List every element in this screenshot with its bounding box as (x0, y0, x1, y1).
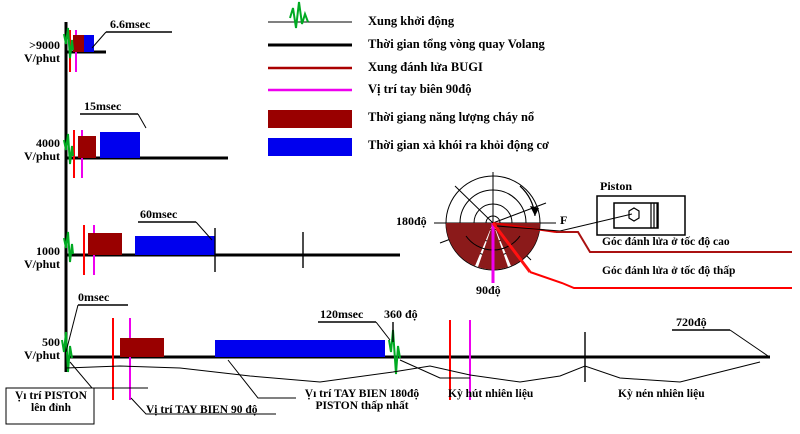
legend-swatch-burn (268, 110, 352, 128)
burn-bar-4000 (78, 136, 96, 158)
callout-intake-stroke: Kỳ hút nhiên liệu (448, 388, 533, 400)
legend-label-spark-pulse: Xung đánh lửa BUGI (368, 61, 483, 74)
duration-label-15msec: 15msec (84, 100, 121, 113)
polar-label-90deg: 90độ (476, 284, 501, 297)
stroke-curve (66, 362, 760, 382)
exhaust-bar-9000 (84, 35, 94, 52)
duration-label-6_6msec: 6.6msec (110, 18, 150, 31)
exhaust-bar-4000 (100, 132, 140, 158)
row-label-rpm-500: 500V/phut (2, 336, 60, 361)
legend-label-start-pulse: Xung khởi động (368, 15, 454, 28)
legend-start-pulse-icon (290, 2, 308, 28)
row-label-rpm-4000: 4000V/phut (2, 137, 60, 162)
legend-label-flywheel-time: Thời gian tổng vòng quay Volang (368, 38, 545, 51)
mark-0msec: 0msec (78, 291, 109, 304)
piston-cylinder-outer (597, 196, 685, 235)
polar-label-180deg: 180độ (396, 215, 427, 228)
callout-compression-stroke: Kỳ nén nhiên liệu (618, 388, 705, 400)
leader-piston-top (70, 362, 148, 388)
mark-360deg: 360 độ (384, 308, 418, 321)
callout-leader-6_6 (92, 32, 106, 48)
polar-label-F: F (560, 214, 567, 227)
legend-swatch-exhaust (268, 138, 352, 156)
callout-piston-top: Ṿı trí PISTONlên đỉnh (10, 390, 92, 414)
callout-leader-15 (138, 114, 146, 128)
advance-label-high: Góc đánh lửa ở tốc độ cao (602, 236, 730, 248)
row-label-rpm-9000: >9000V/phut (2, 39, 60, 64)
crank-polar-diagram (434, 172, 556, 283)
exhaust-bar-1000 (135, 236, 215, 255)
mark-720deg: 720độ (676, 316, 707, 329)
callout-conrod-90: Vị trí TAY BIEN 90 độ (146, 404, 258, 416)
callout-conrod-180: Ṿı trí TAY BIEN 180độPISTON thấp nhất (292, 388, 432, 412)
callout-leader-720 (730, 330, 768, 356)
legend-label-exhaust-time: Thời gian xả khói ra khỏi động cơ (368, 139, 549, 152)
advance-label-low: Góc đánh lửa ở tốc độ thấp (602, 265, 735, 277)
burn-bar-1000 (88, 233, 122, 255)
legend-label-burn-energy: Thời giang năng lượng cháy nổ (368, 111, 534, 124)
burn-bar-9000 (73, 35, 84, 52)
callout-leader-0msec (66, 305, 78, 352)
burn-bar-500 (120, 338, 164, 357)
piston-title: Piston (600, 180, 632, 193)
diagram-canvas: >9000V/phut 4000V/phut 1000V/phut 500V/p… (0, 0, 800, 434)
callout-leader-120 (376, 322, 390, 340)
exhaust-bar-500 (215, 340, 385, 357)
start-pulse-500-a (62, 332, 72, 372)
start-pulse-500-b (389, 330, 400, 374)
row-label-rpm-1000: 1000V/phut (2, 245, 60, 270)
duration-label-120msec: 120msec (320, 308, 363, 321)
duration-label-60msec: 60msec (140, 208, 177, 221)
legend-label-conrod-90: Vị trí tay biên 90độ (368, 83, 471, 96)
